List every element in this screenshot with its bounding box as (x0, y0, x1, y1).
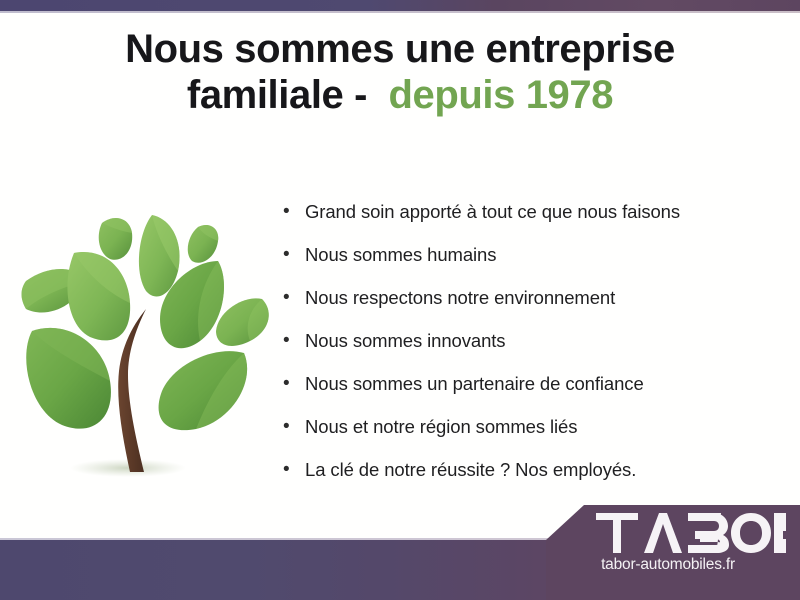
list-item-label: Nous sommes un partenaire de confiance (305, 362, 644, 405)
list-item-label: Nous et notre région sommes liés (305, 405, 577, 448)
list-item: • Nous sommes innovants (283, 319, 783, 362)
tree-leaf-right-lower (159, 351, 248, 430)
tree-trunk (118, 309, 146, 472)
list-item-label: Nous sommes humains (305, 233, 496, 276)
tree-leaf-top-small-left (99, 218, 132, 260)
tree-leaf-left-lower (26, 328, 111, 429)
top-accent-bar (0, 0, 800, 11)
title-highlight-depuis-1978: depuis 1978 (388, 73, 613, 117)
tree-leaf-left-mid (67, 252, 130, 340)
title-line-2: familiale - depuis 1978 (40, 72, 760, 118)
list-item-label: Nous sommes innovants (305, 319, 505, 362)
bullet-point-icon: • (283, 448, 305, 491)
list-item-label: Grand soin apporté à tout ce que nous fa… (305, 190, 680, 233)
tree-leaf-right-outer (216, 298, 269, 346)
tree-leaf-top-small-right (188, 225, 219, 263)
title-separator (343, 73, 354, 117)
list-item: • Nous sommes humains (283, 233, 783, 276)
tree-leaf-top-center (139, 215, 180, 297)
list-item: • Nous et notre région sommes liés (283, 405, 783, 448)
slide-root: Nous sommes une entreprise familiale - d… (0, 0, 800, 600)
list-item-label: Nous respectons notre environnement (305, 276, 615, 319)
title-space (367, 73, 388, 117)
bullet-point-icon: • (283, 190, 305, 233)
title-word-familiale: familiale (187, 73, 343, 117)
title-line-1: Nous sommes une entreprise (40, 26, 760, 72)
bullet-point-icon: • (283, 233, 305, 276)
bullet-list: • Grand soin apporté à tout ce que nous … (283, 190, 783, 491)
list-item-label: La clé de notre réussite ? Nos employés. (305, 448, 636, 491)
list-item: • Nous respectons notre environnement (283, 276, 783, 319)
tabor-logo (596, 513, 786, 553)
bullet-point-icon: • (283, 362, 305, 405)
list-item: • Grand soin apporté à tout ce que nous … (283, 190, 783, 233)
title-dash: - (354, 73, 367, 117)
list-item: • Nous sommes un partenaire de confiance (283, 362, 783, 405)
page-title: Nous sommes une entreprise familiale - d… (40, 26, 760, 119)
bullet-point-icon: • (283, 276, 305, 319)
bullet-point-icon: • (283, 319, 305, 362)
tree-icon (18, 185, 280, 485)
list-item: • La clé de notre réussite ? Nos employé… (283, 448, 783, 491)
logo-tagline: tabor-automobiles.fr (546, 556, 790, 574)
bullet-point-icon: • (283, 405, 305, 448)
